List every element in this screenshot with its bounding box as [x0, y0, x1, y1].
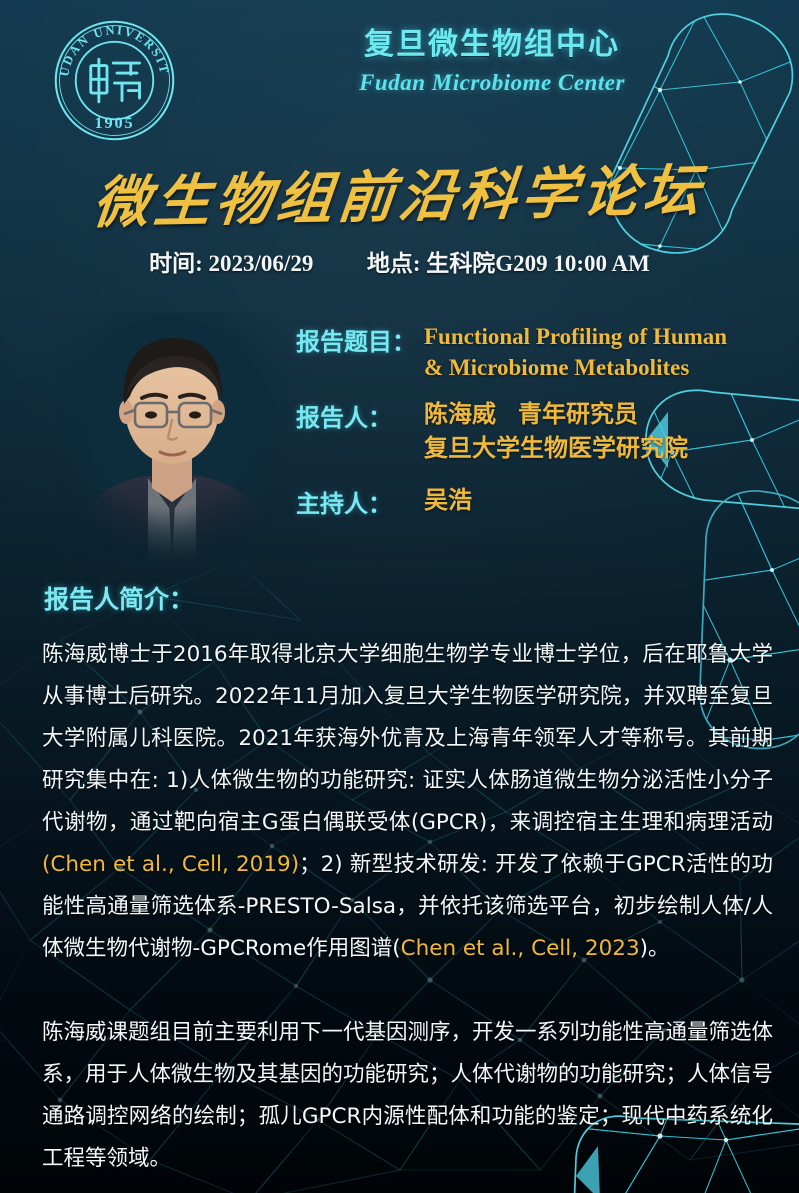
- place-item: 地点: 生科院G209 10:00 AM: [367, 244, 650, 278]
- speaker-line-1: 陈海威青年研究员: [424, 398, 771, 432]
- bio-heading: 报告人简介：: [44, 580, 194, 616]
- seminar-poster: FUDAN UNIVERSITY 1905 复旦微生物组中心 Fudan Mic…: [0, 0, 799, 1193]
- speaker-label: 报告人：: [296, 398, 424, 433]
- host-name: 吴浩: [424, 484, 771, 518]
- bio-body: 陈海威博士于2016年取得北京大学细胞生物学专业博士学位，后在耶鲁大学从事博士后…: [42, 634, 773, 1180]
- host-value: 吴浩: [424, 484, 771, 518]
- forum-title: 微生物组前沿科学论坛: [0, 144, 799, 242]
- speaker-portrait-image: [56, 312, 288, 560]
- topic-line-2: & Microbiome Metabolites: [424, 353, 771, 384]
- speaker-affiliation: 复旦大学生物医学研究院: [424, 432, 771, 466]
- topic-line-1: Functional Profiling of Human: [424, 322, 771, 353]
- crest-year: 1905: [95, 114, 135, 132]
- bio-citation-1: (Chen et al., Cell, 2019): [42, 852, 299, 877]
- seminar-details: 报告题目： Functional Profiling of Human & Mi…: [296, 322, 771, 533]
- bio-citation-2: Chen et al., Cell, 2023: [401, 936, 640, 961]
- center-name-cn: 复旦微生物组中心: [195, 26, 789, 64]
- bio-paragraph-2: 陈海威课题组目前主要利用下一代基因测序，开发一系列功能性高通量筛选体系，用于人体…: [42, 1012, 773, 1180]
- detail-row-topic: 报告题目： Functional Profiling of Human & Mi…: [296, 322, 771, 384]
- time-item: 时间: 2023/06/29: [149, 244, 313, 278]
- host-label: 主持人：: [296, 484, 424, 519]
- bio-p1-part-1: 陈海威博士于2016年取得北京大学细胞生物学专业博士学位，后在耶鲁大学从事博士后…: [42, 642, 773, 835]
- bio-paragraph-1: 陈海威博士于2016年取得北京大学细胞生物学专业博士学位，后在耶鲁大学从事博士后…: [42, 634, 773, 970]
- detail-row-speaker: 报告人： 陈海威青年研究员 复旦大学生物医学研究院: [296, 398, 771, 466]
- detail-row-host: 主持人： 吴浩: [296, 484, 771, 519]
- time-value: 2023/06/29: [209, 251, 314, 276]
- crest-ring-text: FUDAN UNIVERSITY: [52, 18, 172, 78]
- header-titles: 复旦微生物组中心 Fudan Microbiome Center: [195, 26, 789, 96]
- center-name-en: Fudan Microbiome Center: [195, 70, 789, 96]
- fudan-university-crest: FUDAN UNIVERSITY 1905: [52, 18, 177, 143]
- speaker-rank: 青年研究员: [518, 402, 638, 428]
- topic-value: Functional Profiling of Human & Microbio…: [424, 322, 771, 384]
- bio-p1-part-3: )。: [640, 936, 670, 961]
- place-value: 生科院G209 10:00 AM: [426, 251, 650, 276]
- speaker-value: 陈海威青年研究员 复旦大学生物医学研究院: [424, 398, 771, 466]
- place-label: 地点:: [367, 251, 421, 276]
- time-label: 时间:: [149, 251, 203, 276]
- topic-label: 报告题目：: [296, 322, 424, 357]
- svg-text:FUDAN UNIVERSITY: FUDAN UNIVERSITY: [52, 18, 172, 78]
- speaker-portrait: [56, 312, 288, 560]
- meta-row: 时间: 2023/06/29 地点: 生科院G209 10:00 AM: [0, 244, 799, 278]
- poster-header: FUDAN UNIVERSITY 1905 复旦微生物组中心 Fudan Mic…: [0, 0, 799, 150]
- speaker-name: 陈海威: [424, 402, 496, 428]
